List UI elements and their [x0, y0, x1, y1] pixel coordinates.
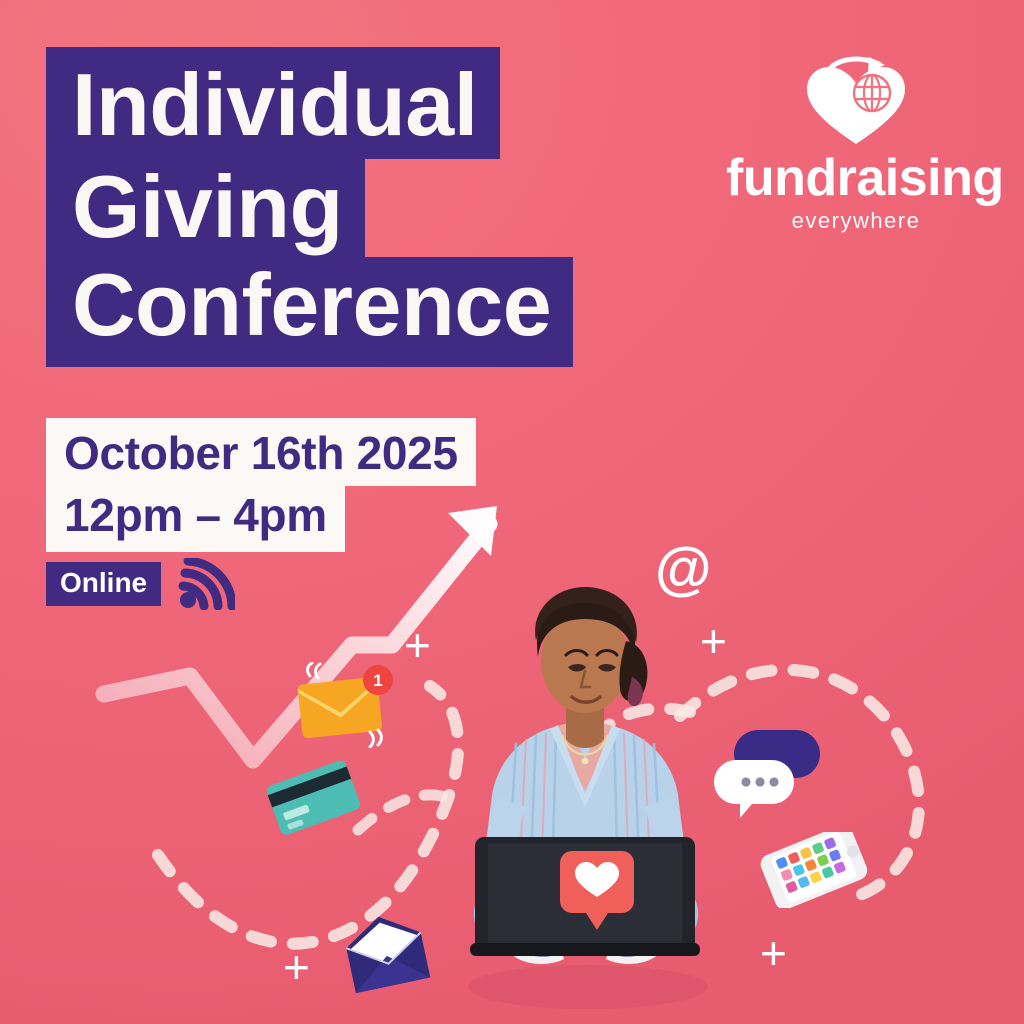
woman-with-laptop-photo [420, 545, 750, 1015]
plus-icon: + [760, 930, 787, 976]
poster-canvas: Individual Giving Conference October 16t… [0, 0, 1024, 1024]
plus-icon: + [283, 944, 310, 990]
notification-count: 1 [373, 671, 382, 690]
smartphone-icon [760, 832, 870, 908]
event-time: 12pm – 4pm [46, 486, 345, 552]
title-line-2: Giving [46, 159, 365, 257]
status-badge: Online [46, 562, 161, 606]
credit-card-icon [262, 752, 362, 836]
logo-wordmark: fundraising [726, 152, 986, 204]
title-line-3: Conference [46, 257, 573, 367]
online-row: Online [46, 558, 235, 610]
logo-tagline: everywhere [726, 210, 986, 232]
wifi-icon [177, 558, 235, 610]
page-title: Individual Giving Conference [46, 47, 746, 367]
title-line-1: Individual [46, 47, 500, 159]
heart-globe-arrow-icon [797, 56, 915, 148]
brand-logo: fundraising everywhere [726, 56, 986, 232]
yellow-envelope-notification-icon: 1 [292, 662, 400, 748]
event-date: October 16th 2025 [46, 418, 476, 486]
event-datetime: October 16th 2025 12pm – 4pm [46, 418, 476, 552]
